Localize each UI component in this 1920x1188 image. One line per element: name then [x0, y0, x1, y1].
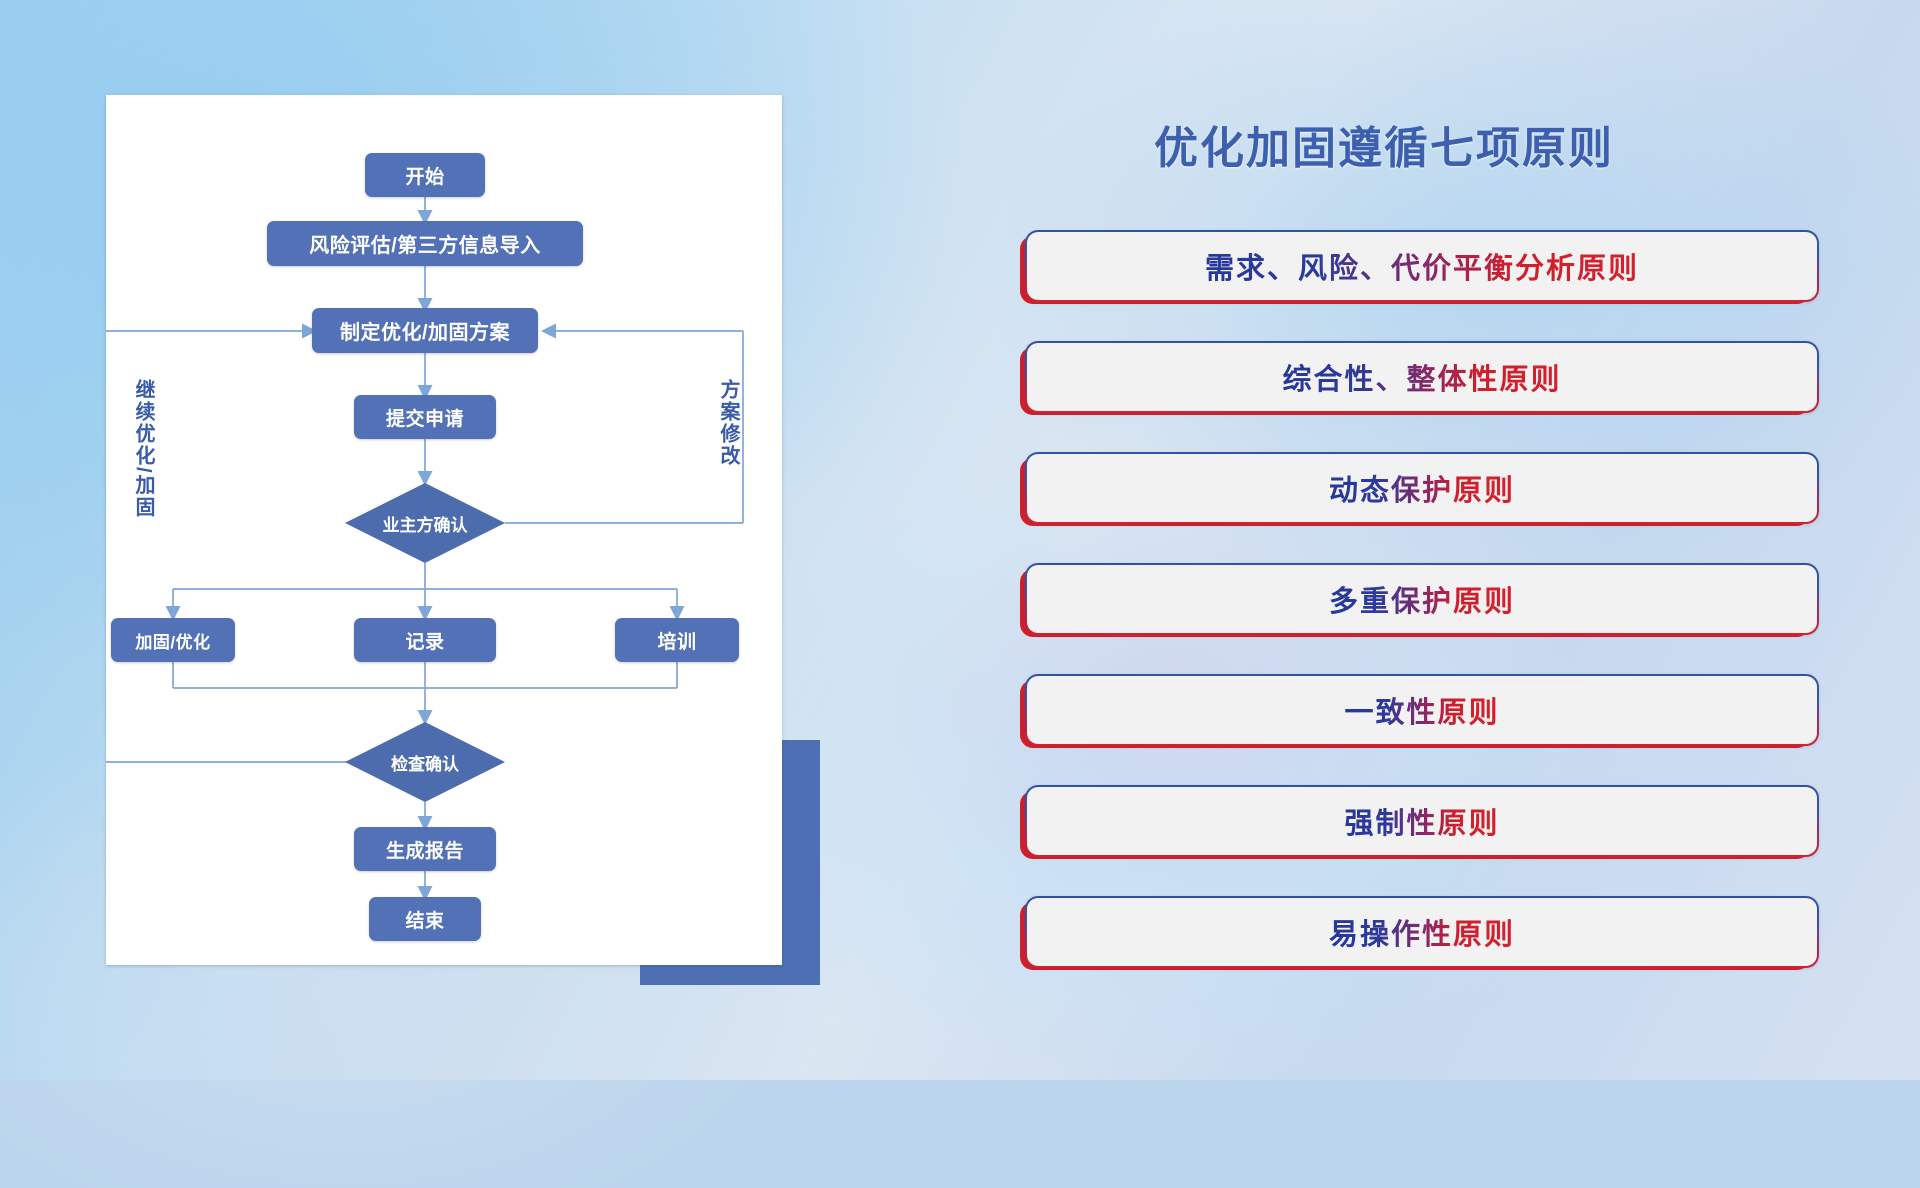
- principle-card-face[interactable]: 需求、风险、代价平衡分析原则: [1025, 230, 1819, 302]
- flow-decision-owner-confirm[interactable]: 业主方确认: [345, 483, 505, 563]
- principle-card-label: 易操作性原则: [1329, 911, 1515, 953]
- flow-node-plan[interactable]: 制定优化/加固方案: [312, 308, 538, 353]
- flow-node-risk-assessment-label: 风险评估/第三方信息导入: [309, 229, 541, 258]
- flow-edge-label-plan-revision: 方案修改: [717, 379, 738, 467]
- flow-node-training-label: 培训: [657, 627, 696, 654]
- principles-section: 优化加固遵循七项原则 需求、风险、代价平衡分析原则 综合性、整体性原则 动态保护…: [1020, 90, 1840, 1020]
- flow-node-record-label: 记录: [405, 627, 444, 654]
- flow-node-submit-application-label: 提交申请: [386, 404, 464, 431]
- principles-title: 优化加固遵循七项原则: [1154, 112, 1614, 176]
- flow-node-generate-report-label: 生成报告: [386, 836, 464, 863]
- principle-card-face[interactable]: 多重保护原则: [1025, 563, 1819, 635]
- flow-decision-inspection[interactable]: 检查确认: [345, 722, 505, 802]
- principles-card-list: 需求、风险、代价平衡分析原则 综合性、整体性原则 动态保护原则 多重保护原则 一: [1020, 230, 1840, 1007]
- principle-card[interactable]: 多重保护原则: [1020, 563, 1840, 634]
- principle-card[interactable]: 需求、风险、代价平衡分析原则: [1020, 230, 1840, 301]
- principle-card[interactable]: 综合性、整体性原则: [1020, 341, 1840, 412]
- principle-card-face[interactable]: 一致性原则: [1025, 674, 1819, 746]
- principle-card[interactable]: 动态保护原则: [1020, 452, 1840, 523]
- flowchart-diagram: 开始 风险评估/第三方信息导入 制定优化/加固方案 提交申请 业主方确认 加固/…: [106, 95, 782, 965]
- principle-card-face[interactable]: 易操作性原则: [1025, 896, 1819, 968]
- flow-node-submit-application[interactable]: 提交申请: [354, 395, 496, 439]
- principle-card-face[interactable]: 动态保护原则: [1025, 452, 1819, 524]
- flow-node-record[interactable]: 记录: [354, 618, 496, 662]
- principle-card[interactable]: 强制性原则: [1020, 785, 1840, 856]
- flow-decision-owner-confirm-label: 业主方确认: [383, 511, 468, 536]
- principle-card-label: 综合性、整体性原则: [1282, 356, 1561, 398]
- principle-card[interactable]: 易操作性原则: [1020, 896, 1840, 967]
- flowchart-panel: 开始 风险评估/第三方信息导入 制定优化/加固方案 提交申请 业主方确认 加固/…: [106, 95, 782, 965]
- flow-node-generate-report[interactable]: 生成报告: [354, 827, 496, 871]
- principle-card[interactable]: 一致性原则: [1020, 674, 1840, 745]
- principle-card-label: 一致性原则: [1344, 689, 1499, 731]
- flow-decision-inspection-label: 检查确认: [391, 750, 459, 775]
- principle-card-label: 需求、风险、代价平衡分析原则: [1205, 245, 1639, 287]
- flow-node-plan-label: 制定优化/加固方案: [340, 316, 510, 345]
- principle-card-face[interactable]: 综合性、整体性原则: [1025, 341, 1819, 413]
- principle-card-face[interactable]: 强制性原则: [1025, 785, 1819, 857]
- flow-edge-label-continue-optimize: 继续优化/加固: [132, 379, 153, 519]
- principle-card-label: 多重保护原则: [1329, 578, 1515, 620]
- flow-node-end-label: 结束: [405, 906, 444, 933]
- flow-node-reinforce-label: 加固/优化: [135, 628, 210, 653]
- flow-node-risk-assessment[interactable]: 风险评估/第三方信息导入: [267, 221, 583, 266]
- flow-node-reinforce[interactable]: 加固/优化: [111, 618, 235, 662]
- principle-card-label: 动态保护原则: [1329, 467, 1515, 509]
- flow-node-start[interactable]: 开始: [365, 153, 485, 197]
- principle-card-label: 强制性原则: [1344, 800, 1499, 842]
- flow-node-start-label: 开始: [405, 162, 444, 189]
- flow-node-training[interactable]: 培训: [615, 618, 739, 662]
- flow-node-end[interactable]: 结束: [369, 897, 481, 941]
